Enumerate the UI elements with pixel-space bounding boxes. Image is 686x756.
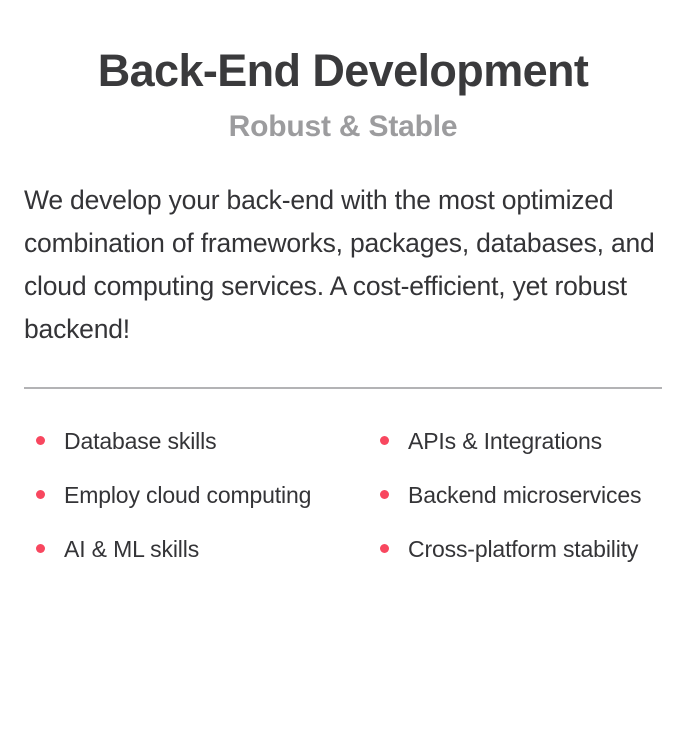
- list-item: APIs & Integrations: [380, 423, 686, 461]
- list-item-label: Cross-platform stability: [408, 536, 638, 562]
- bullet-dot-icon: [380, 544, 389, 553]
- bullet-dot-icon: [36, 490, 45, 499]
- list-item-label: Database skills: [64, 428, 216, 454]
- skills-section: Database skills Employ cloud computing A…: [0, 423, 686, 569]
- card-description: We develop your back-end with the most o…: [24, 179, 662, 351]
- skills-column-right: APIs & Integrations Backend microservice…: [343, 423, 686, 569]
- bullet-dot-icon: [380, 490, 389, 499]
- list-item: AI & ML skills: [36, 531, 343, 569]
- list-item: Database skills: [36, 423, 343, 461]
- list-item-label: Employ cloud computing: [64, 482, 311, 508]
- list-item: Employ cloud computing: [36, 477, 343, 515]
- skill-list-left: Database skills Employ cloud computing A…: [36, 423, 343, 569]
- list-item: Cross-platform stability: [380, 531, 686, 569]
- service-card: Back-End Development Robust & Stable We …: [0, 0, 686, 756]
- skill-list-right: APIs & Integrations Backend microservice…: [380, 423, 686, 569]
- bullet-dot-icon: [36, 436, 45, 445]
- list-item-label: Backend microservices: [408, 482, 641, 508]
- bullet-dot-icon: [36, 544, 45, 553]
- page-title: Back-End Development: [0, 46, 686, 96]
- skills-column-left: Database skills Employ cloud computing A…: [0, 423, 343, 569]
- list-item-label: APIs & Integrations: [408, 428, 602, 454]
- list-item-label: AI & ML skills: [64, 536, 199, 562]
- list-item: Backend microservices: [380, 477, 686, 515]
- card-header: Back-End Development Robust & Stable: [0, 0, 686, 143]
- bullet-dot-icon: [380, 436, 389, 445]
- section-divider: [24, 387, 662, 389]
- card-subtitle: Robust & Stable: [0, 110, 686, 143]
